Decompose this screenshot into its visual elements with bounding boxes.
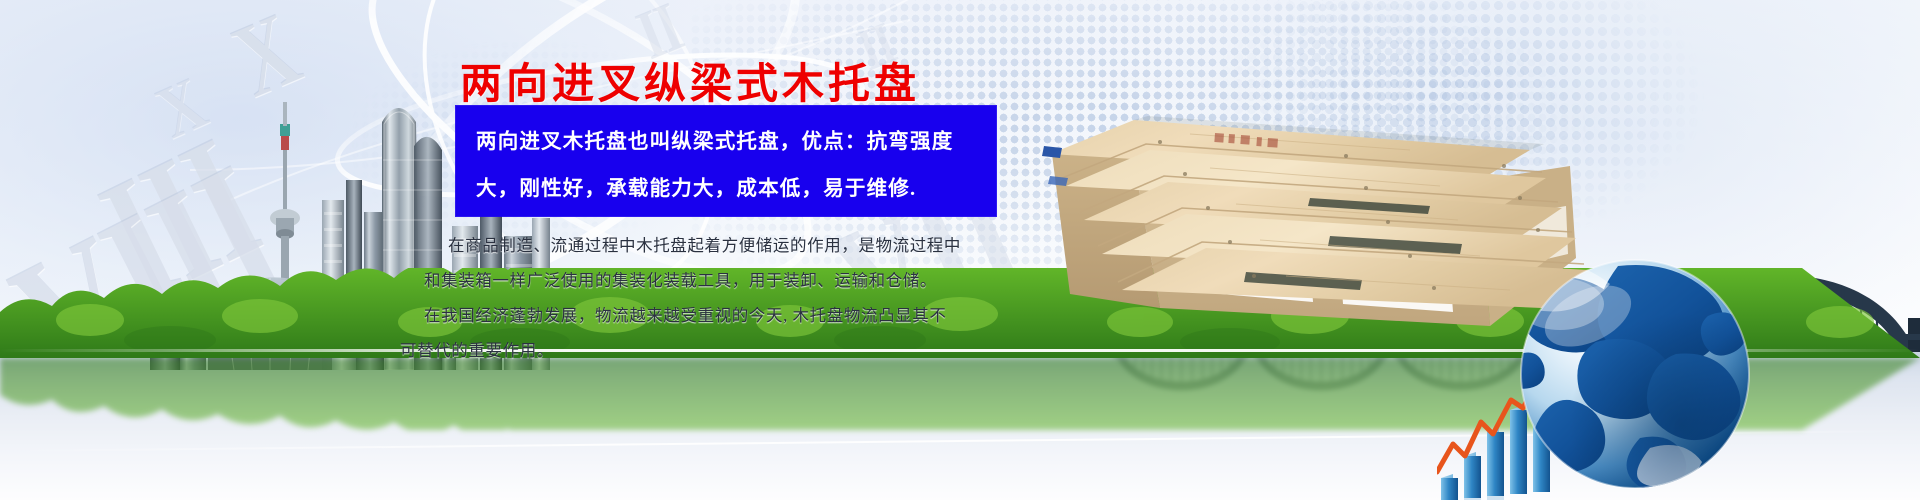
body-paragraph-1: 在商品制造、流通过程中木托盘起着方便储运的作用，是物流过程中 (448, 228, 1048, 263)
trend-arrow-icon (1437, 382, 1541, 472)
watermark-numeral: X (216, 0, 313, 122)
globe-image (1500, 258, 1770, 500)
promotional-banner: X X III VIII VII II II V (0, 0, 1920, 500)
pallet-stamp (1214, 133, 1278, 148)
body-paragraph-4: 可替代的重要作用。 (400, 333, 1048, 368)
watermark-numeral: VIII (0, 118, 316, 442)
wooden-pallet-image (1010, 58, 1590, 338)
globe-landmasses (1508, 265, 1746, 491)
trend-arrow-head (1537, 382, 1551, 388)
highlight-callout-box: 两向进叉木托盘也叫纵梁式托盘，优点：抗弯强度 大，刚性好，承载能力大，成本低，易… (456, 106, 996, 216)
ground-light-streak (0, 430, 1920, 452)
background-wash-right (1120, 0, 1920, 440)
body-paragraph-2: 和集装箱一样广泛使用的集装化装载工具，用于装卸、运输和仓储。 (424, 263, 1048, 298)
body-copy: 在商品制造、流通过程中木托盘起着方便储运的作用，是物流过程中 和集装箱一样广泛使… (448, 228, 1048, 368)
dot-grid-pattern-right (1180, 0, 1740, 260)
bar-group (1441, 382, 1550, 500)
tree-reflection (0, 358, 1920, 430)
body-paragraph-3: 在我国经济蓬勃发展，物流越来越受重视的今天, 木托盘物流凸显其不 (424, 298, 1048, 333)
blue-clip (1042, 146, 1068, 186)
ground-plane (0, 350, 1920, 500)
globe-highlights (1500, 258, 1702, 487)
highlight-line-2: 大，刚性好，承载能力大，成本低，易于维修. (476, 171, 916, 201)
page-title: 两向进叉纵梁式木托盘 (460, 50, 920, 111)
bar-chart-graphic (1437, 382, 1562, 500)
highlight-line-1: 两向进叉木托盘也叫纵梁式托盘，优点：抗弯强度 (476, 124, 953, 154)
